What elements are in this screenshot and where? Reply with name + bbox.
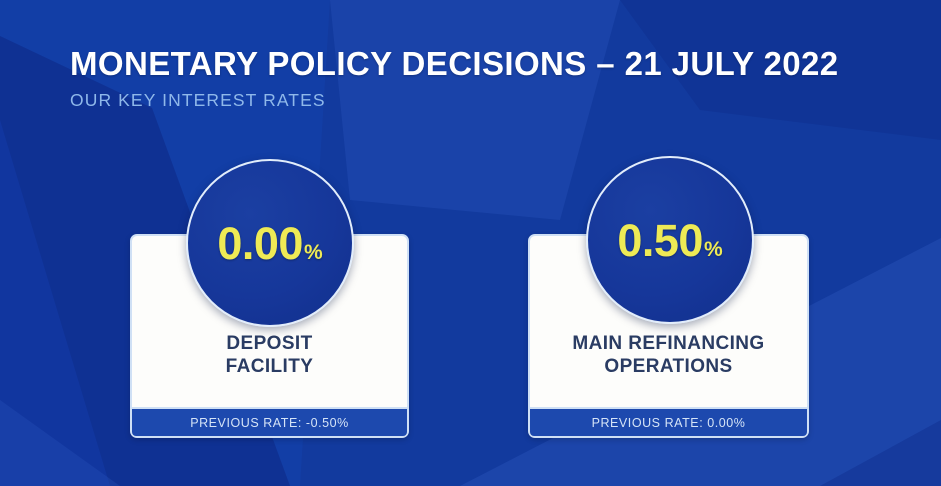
rate-circle-deposit-facility: 0.00 % — [186, 159, 354, 327]
rate-display-deposit-facility: 0.00 % — [188, 221, 352, 266]
rate-percent-sign-main-refinancing-operations: % — [704, 239, 723, 260]
card-label-line1: DEPOSIT — [140, 332, 399, 355]
infographic-root: MONETARY POLICY DECISIONS – 21 JULY 2022… — [0, 0, 941, 486]
previous-rate-bar-deposit-facility: PREVIOUS RATE: -0.50% — [132, 407, 407, 436]
card-label-line2: FACILITY — [140, 355, 399, 378]
background-shape-bottom-right — [820, 420, 941, 486]
rate-value-deposit-facility: 0.00 — [217, 221, 303, 266]
rate-value-main-refinancing-operations: 0.50 — [617, 218, 703, 263]
page-subtitle: OUR KEY INTEREST RATES — [70, 89, 839, 111]
background-shape-left-wedge — [0, 120, 110, 486]
rate-display-main-refinancing-operations: 0.50 % — [588, 218, 752, 263]
rate-percent-sign-deposit-facility: % — [304, 242, 323, 263]
card-label-deposit-facility: DEPOSIT FACILITY — [132, 332, 407, 378]
page-title: MONETARY POLICY DECISIONS – 21 JULY 2022 — [70, 44, 839, 84]
background-shape-bottom-left — [0, 400, 120, 486]
card-label-main-refinancing-operations: MAIN REFINANCING OPERATIONS — [530, 332, 807, 378]
card-label-line1: MAIN REFINANCING — [538, 332, 799, 355]
header: MONETARY POLICY DECISIONS – 21 JULY 2022… — [70, 44, 839, 111]
rate-circle-main-refinancing-operations: 0.50 % — [586, 156, 754, 324]
card-label-line2: OPERATIONS — [538, 355, 799, 378]
previous-rate-bar-main-refinancing-operations: PREVIOUS RATE: 0.00% — [530, 407, 807, 436]
